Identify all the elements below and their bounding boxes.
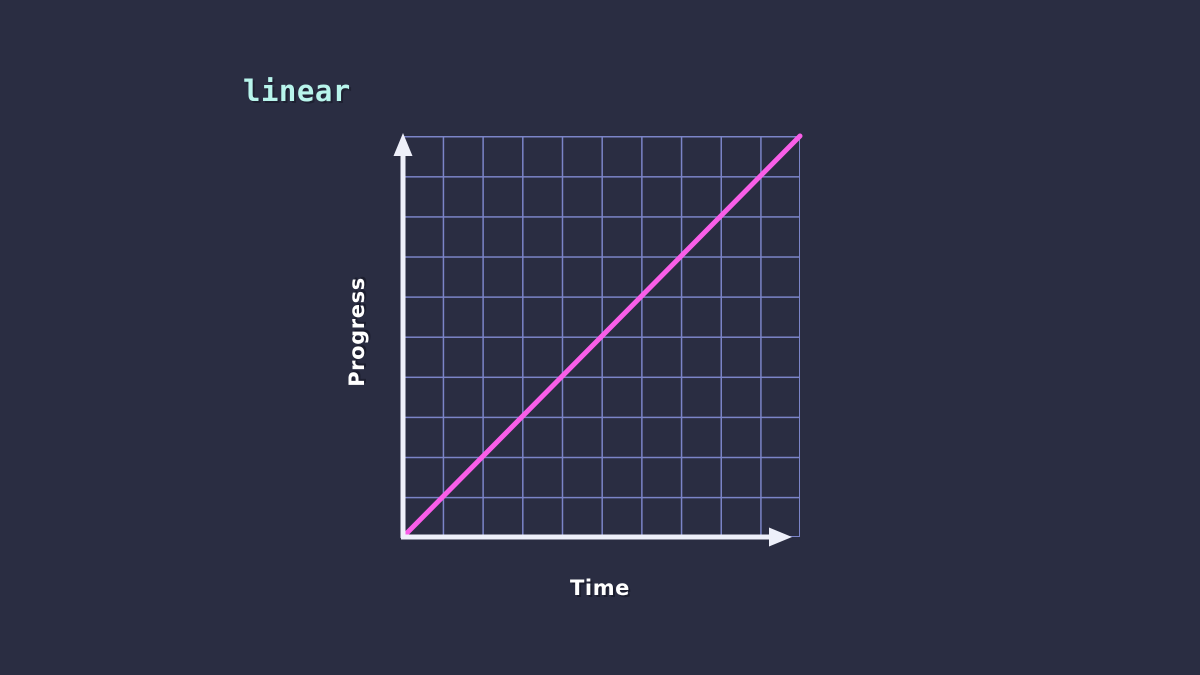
chart-title: linear [243, 74, 351, 108]
chart-axes [380, 120, 820, 560]
y-axis-label: Progress [345, 277, 369, 387]
x-axis-arrow-icon [769, 528, 792, 547]
chart-canvas: linear Progress Time [0, 0, 1200, 675]
x-axis-label: Time [570, 576, 630, 600]
y-axis-arrow-icon [394, 133, 413, 156]
